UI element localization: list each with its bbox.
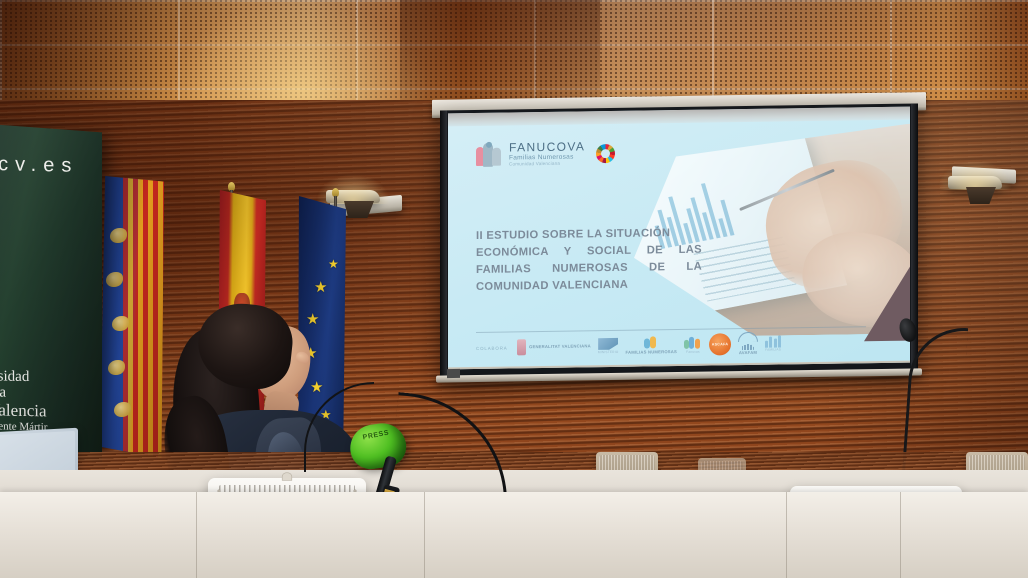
collaborator-generalitat: GENERALITAT VALENCIANA: [517, 333, 591, 360]
presentation-slide: FANUCOVA Familias Numerosas Comunidad Va…: [448, 120, 910, 370]
collaborator-generalitat-label: GENERALITAT VALENCIANA: [529, 344, 591, 350]
slide-title-line-4: COMUNIDAD VALENCIANA: [476, 276, 702, 296]
collaborator-familias-numerosas: FAMILIAS NUMEROSAS: [625, 332, 677, 359]
collaborator-familias-numerosas-label: FAMILIAS NUMEROSAS: [625, 350, 677, 356]
ceiling-light-glow: [170, 0, 430, 112]
projection-screen: FANUCOVA Familias Numerosas Comunidad Va…: [440, 103, 918, 377]
screen-pull-cleat: [447, 369, 460, 378]
collaborator-avafam-label: AVAFAM: [739, 351, 757, 356]
collaborator-fanucas: Fanucas: [684, 332, 702, 358]
brand-tagline-2: Comunidad Valenciana: [509, 162, 585, 168]
sconce-glow-right: [938, 160, 1012, 190]
desk-seam-4: [900, 492, 901, 578]
familias-numerosas-icon: [643, 336, 659, 349]
flag-valencian-community: [100, 176, 164, 458]
ucv-roll-up-banner: ucv.es Universidad Católica de Valencia …: [0, 124, 102, 463]
senyera-shading: [100, 176, 164, 458]
desk-seam-2: [424, 492, 425, 578]
conference-room-photo: FANUCOVA Familias Numerosas Comunidad Va…: [0, 0, 1028, 578]
monitor-left-hinge: [283, 473, 292, 480]
screen-surface: FANUCOVA Familias Numerosas Comunidad Va…: [448, 107, 910, 370]
slide-collaborators-row: COLABORA GENERALITAT VALENCIANA MINISTER…: [476, 327, 894, 363]
collaborator-familias-label: FAMILIAS: [765, 348, 781, 352]
collaborator-avafam: AVAFAM: [738, 331, 758, 357]
collaborator-familias: FAMILIAS: [765, 330, 781, 356]
fanucas-icon: [684, 335, 702, 349]
slide-title-line-3: FAMILIAS NUMEROSAS DE LA: [476, 259, 702, 279]
collaborator-ascafa: ASCAFA: [709, 331, 731, 357]
wall-sconce-right: [948, 176, 1002, 189]
screen-edge-left: [440, 110, 447, 377]
sdg-wheel-icon: [596, 143, 615, 162]
generalitat-crest-icon: [517, 339, 526, 355]
desk-front-panel: [0, 492, 1028, 578]
ceiling-shadow-center: [400, 0, 600, 112]
banner-sheen: [0, 124, 102, 463]
brand-name: FANUCOVA: [509, 141, 585, 154]
sconce-glow-left: [316, 174, 390, 204]
collaborator-ministerio: MINISTERIO: [598, 333, 619, 359]
brand-text-block: FANUCOVA Familias Numerosas Comunidad Va…: [509, 141, 585, 168]
familias-bars-icon: [765, 335, 781, 347]
fanucova-family-icon: [476, 142, 502, 168]
slide-brand-lockup: FANUCOVA Familias Numerosas Comunidad Va…: [476, 140, 615, 168]
ascafa-badge-icon: ASCAFA: [709, 333, 731, 355]
desk-seam-3: [786, 492, 787, 578]
slide-title: II ESTUDIO SOBRE LA SITUACIÓN ECONÓMICA …: [476, 225, 702, 296]
collaborators-label: COLABORA: [476, 345, 510, 351]
desk-seam-1: [196, 492, 197, 578]
collaborator-fanucas-label: Fanucas: [686, 350, 700, 354]
collaborator-ministerio-label: MINISTERIO: [598, 351, 619, 355]
ministerio-icon: [598, 338, 618, 350]
avafam-arc-icon: [738, 332, 758, 342]
